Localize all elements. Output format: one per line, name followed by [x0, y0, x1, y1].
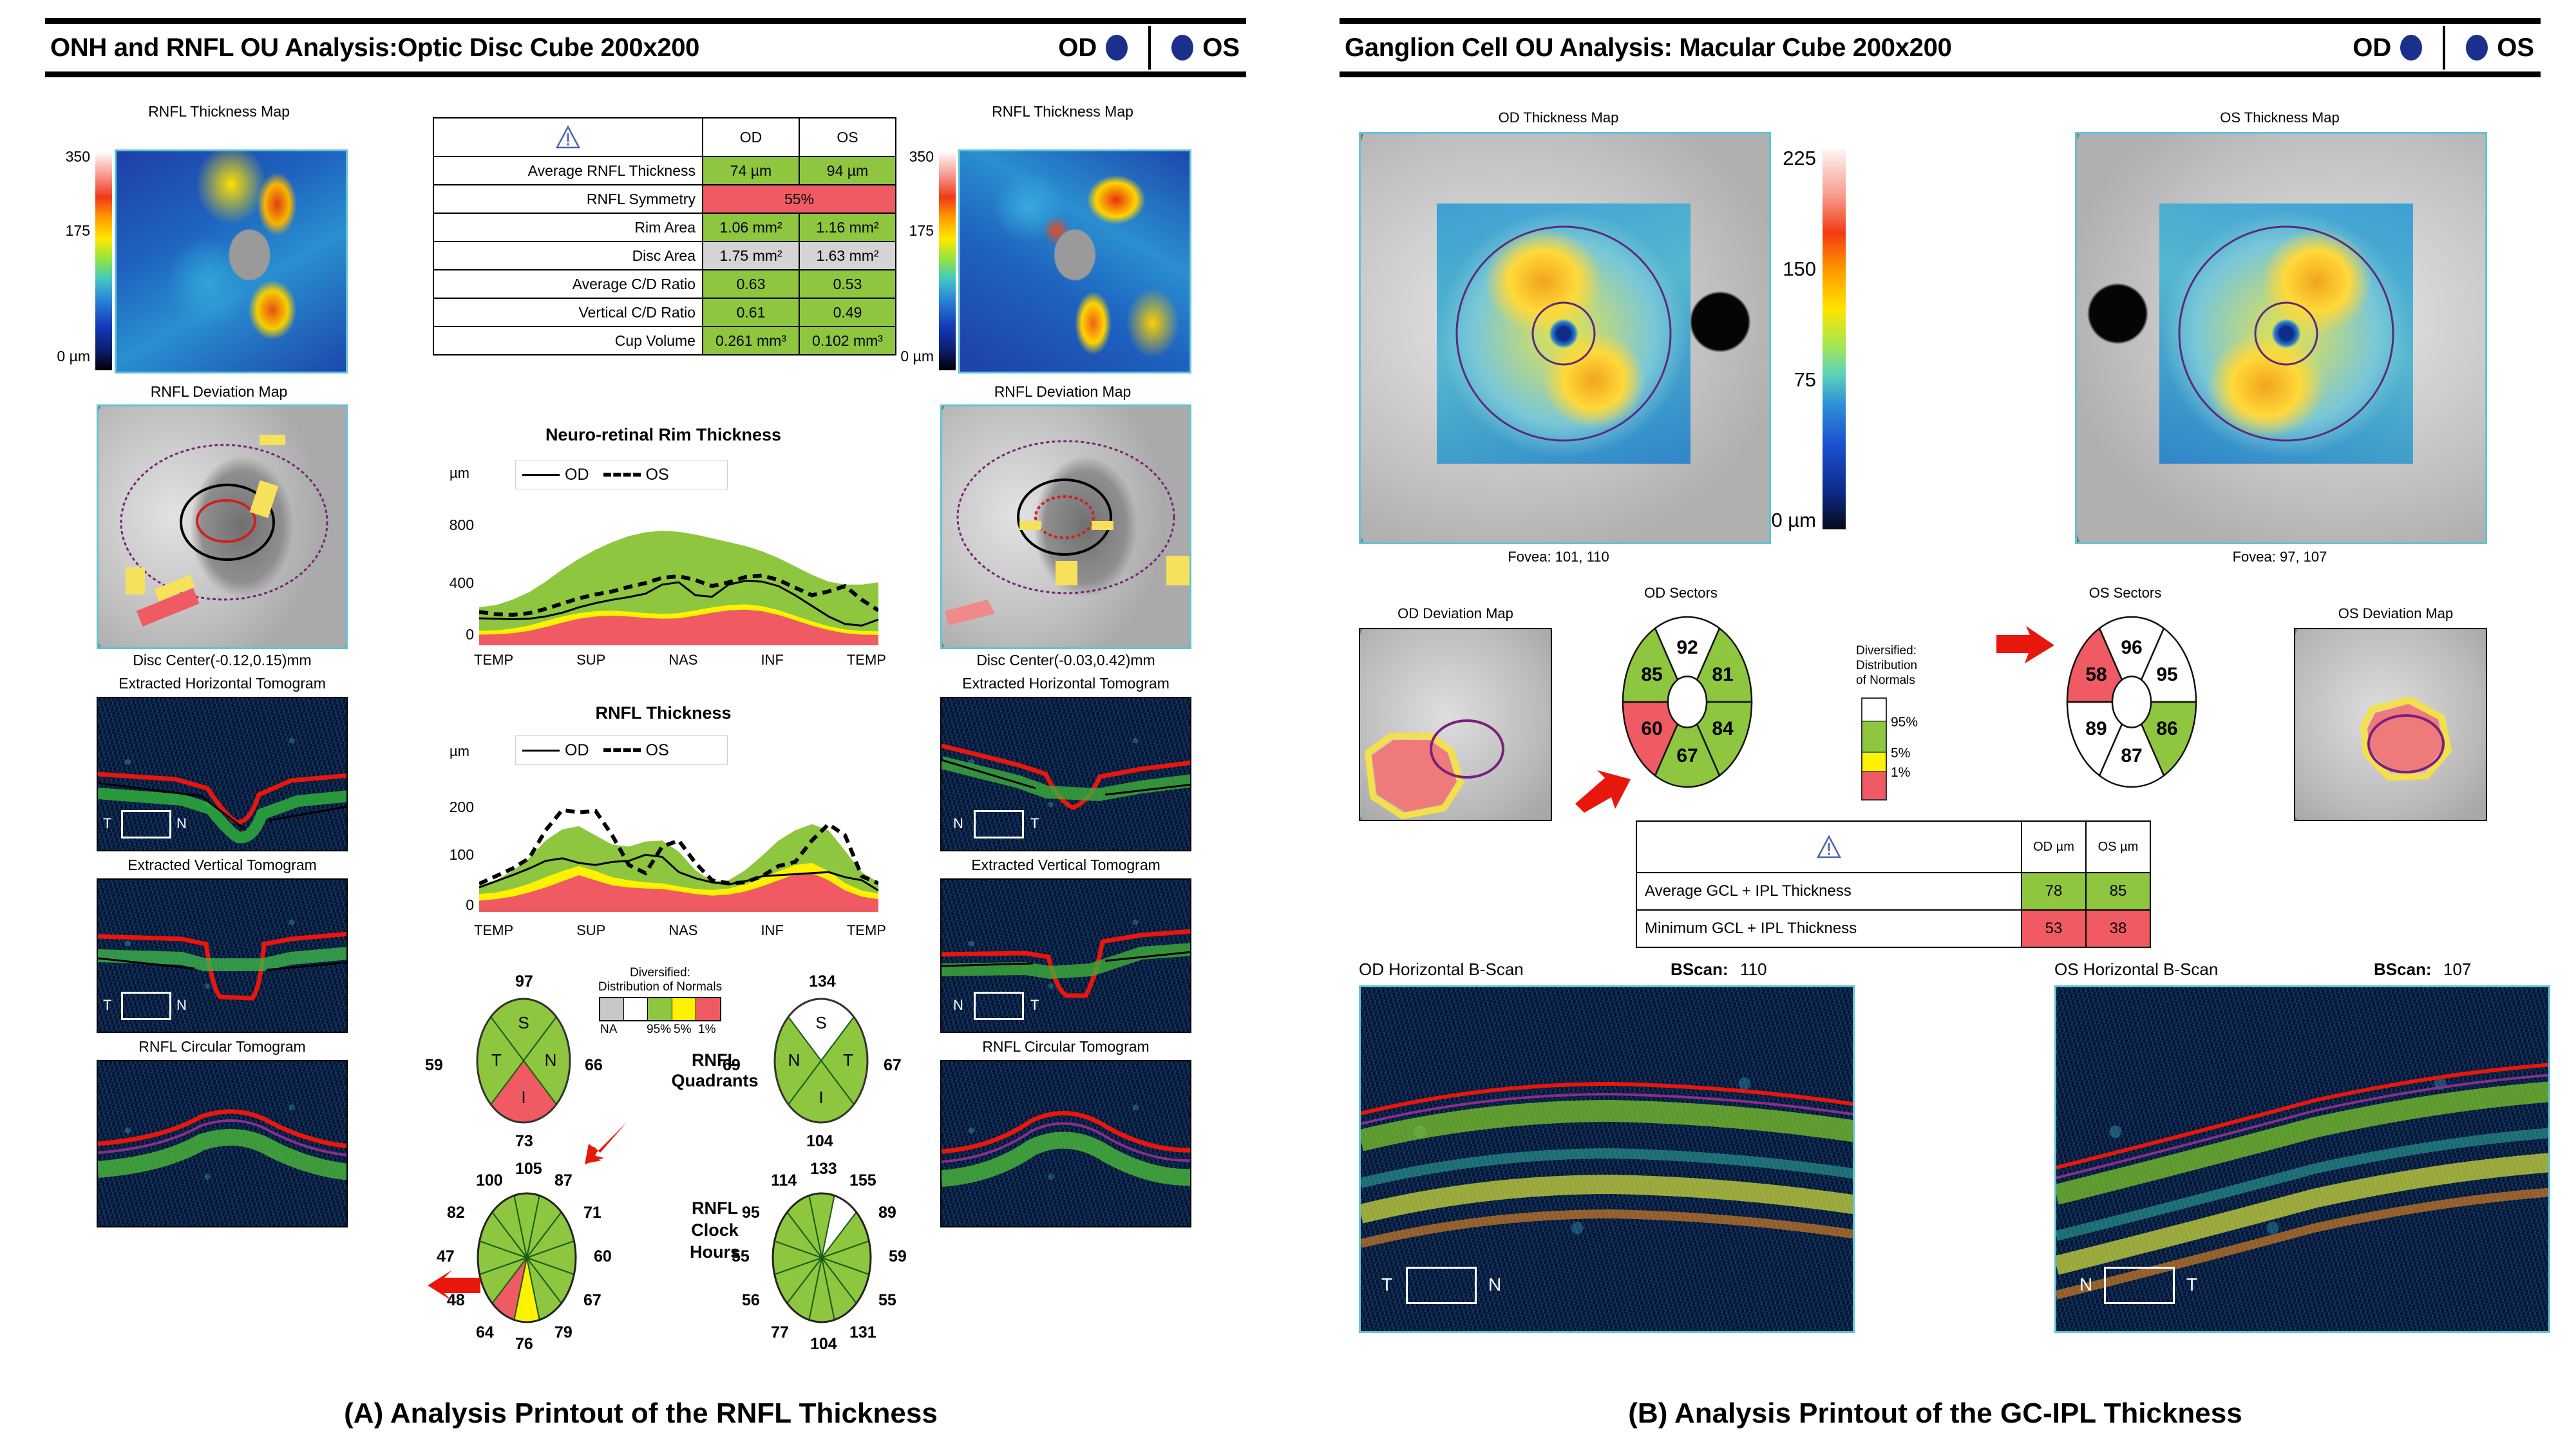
- normals-label-1: 1%: [698, 1023, 715, 1037]
- os-h-marker-right: T: [1030, 815, 1039, 832]
- svg-text:86: 86: [2156, 718, 2177, 739]
- normals-label-95: 95%: [647, 1023, 671, 1037]
- nrr-legend-os-label: OS: [646, 466, 669, 484]
- row-os-2: 1.16 mm²: [799, 213, 896, 241]
- rnfl-xtick-3: INF: [761, 922, 783, 939]
- os-deviation-map-title: RNFL Deviation Map: [934, 383, 1191, 401]
- row-od-6: 0.261 mm³: [703, 327, 799, 355]
- od-label: OD: [1058, 33, 1097, 62]
- gcipl-col-os: OS µm: [2086, 821, 2150, 873]
- od-bscan-label: BScan:: [1671, 960, 1728, 980]
- normals-legend-swatches: [599, 997, 721, 1021]
- table-row: Cup Volume 0.261 mm³ 0.102 mm³: [433, 327, 896, 355]
- row-os-5: 0.49: [799, 298, 896, 327]
- onh-rnfl-summary-table: OD OS Average RNFL Thickness 74 µm 94 µm…: [433, 117, 896, 355]
- os-scale-top: 350: [889, 148, 934, 166]
- os-horizontal-tomogram[interactable]: N T: [940, 697, 1191, 851]
- gc-legend-tick-95: 95%: [1891, 715, 1918, 730]
- svg-text:I: I: [819, 1088, 823, 1107]
- row-od-0: 74 µm: [703, 156, 799, 185]
- rnfl-clock-label-3: Hours: [650, 1242, 779, 1264]
- panel-b-header: Ganglion Cell OU Analysis: Macular Cube …: [1340, 18, 2541, 77]
- os-rnfl-thickness-map[interactable]: [958, 149, 1191, 374]
- gc-normals-legend: Diversified: Distribution of Normals: [1856, 644, 1978, 688]
- os-label-b: OS: [2497, 33, 2534, 62]
- rnfl-clock-label-2: Clock: [650, 1220, 779, 1242]
- os-vertical-tomogram[interactable]: N T: [940, 878, 1191, 1033]
- clock-value-1: 87: [554, 1171, 573, 1190]
- nrr-legend-os-line: [603, 473, 641, 477]
- gc-legend-color-bar: [1861, 697, 1887, 800]
- table-row: Vertical C/D Ratio 0.61 0.49: [433, 298, 896, 327]
- os-horizontal-bscan[interactable]: N T: [2054, 985, 2550, 1333]
- normals-legend-labels: NA 95% 5% 1%: [599, 1023, 721, 1038]
- os-rnfl-clock-wheel[interactable]: [764, 1188, 880, 1327]
- table-row: Average RNFL Thickness 74 µm 94 µm: [433, 156, 896, 185]
- clock-value-11: 100: [476, 1171, 503, 1190]
- nrr-xtick-1: SUP: [576, 652, 605, 668]
- row-label-3: Disc Area: [433, 241, 703, 270]
- clock-value-5: 131: [849, 1323, 876, 1342]
- gc-swatch-white: [1862, 699, 1886, 722]
- rnfl-legend-od-label: OD: [565, 741, 589, 760]
- clock-value-3: 59: [889, 1247, 907, 1266]
- svg-text:S: S: [518, 1013, 529, 1032]
- od-bscan-marker-right: N: [1488, 1274, 1501, 1295]
- od-circular-tomogram[interactable]: [97, 1060, 348, 1227]
- od-v-tomogram-marker: [121, 992, 171, 1020]
- header-b-rule-top: [1340, 18, 2541, 24]
- svg-text:92: 92: [1676, 637, 1698, 658]
- svg-text:S: S: [815, 1013, 826, 1032]
- od-quad-sup-value: 97: [515, 972, 533, 991]
- gc-scale-150: 150: [1768, 258, 1816, 281]
- rnfl-legend-od-line: [522, 750, 560, 752]
- os-quad-sup-value: 134: [809, 972, 836, 991]
- od-horizontal-tomogram-title: Extracted Horizontal Tomogram: [84, 675, 361, 692]
- od-horizontal-bscan[interactable]: T N: [1359, 985, 1855, 1333]
- rnfl-clock-hours-label: RNFL Clock Hours: [650, 1198, 779, 1263]
- gcipl-row-od-0: 78: [2022, 873, 2086, 910]
- row-os-4: 0.53: [799, 270, 896, 298]
- od-gc-thickness-title: OD Thickness Map: [1333, 109, 1784, 126]
- clock-value-10: 82: [447, 1204, 465, 1222]
- clock-value-2: 89: [878, 1204, 896, 1222]
- os-horizontal-tomogram-title: Extracted Horizontal Tomogram: [927, 675, 1204, 692]
- os-h-tomogram-marker: [974, 810, 1024, 838]
- od-fovea-coords: Fovea: 101, 110: [1333, 549, 1784, 565]
- gc-scale-225: 225: [1768, 147, 1816, 170]
- gc-color-scale-bar: [1823, 149, 1846, 529]
- od-scale-mid: 175: [45, 222, 90, 240]
- panel-b-gcipl: Ganglion Cell OU Analysis: Macular Cube …: [1294, 0, 2576, 1449]
- nrr-legend: OD OS: [515, 460, 728, 489]
- os-gc-deviation-map[interactable]: [2294, 628, 2487, 821]
- gc-legend-tick-5: 5%: [1891, 746, 1910, 761]
- eye-divider-b: [2443, 26, 2445, 70]
- neuro-retinal-rim-chart: Neuro-retinal Rim Thickness µm OD OS 800…: [425, 425, 902, 683]
- gc-swatch-green: [1862, 722, 1886, 753]
- normals-label-na: NA: [600, 1023, 617, 1037]
- panel-a-header: ONH and RNFL OU Analysis:Optic Disc Cube…: [45, 18, 1246, 77]
- od-v-marker-left: T: [103, 997, 111, 1014]
- od-rnfl-deviation-map[interactable]: [97, 404, 348, 649]
- gcipl-col-od: OD µm: [2022, 821, 2086, 873]
- warning-icon-cell: [433, 118, 703, 156]
- nrr-xtick-3: INF: [761, 652, 783, 668]
- svg-text:58: 58: [2085, 664, 2107, 685]
- od-gc-sector-wheel[interactable]: 928184676085: [1616, 612, 1758, 792]
- rnfl-quadrants-label-1: RNFL: [650, 1050, 779, 1070]
- clock-value-3: 60: [594, 1247, 612, 1266]
- header-rule-top: [45, 18, 1246, 24]
- os-gc-thickness-map[interactable]: [2075, 132, 2487, 544]
- os-rnfl-deviation-map[interactable]: [940, 404, 1191, 649]
- svg-text:84: 84: [1712, 718, 1734, 739]
- os-h-marker-left: N: [953, 815, 963, 832]
- svg-text:60: 60: [1641, 718, 1662, 739]
- panel-a-eye-indicators: OD OS: [1058, 26, 1246, 70]
- rnfl-ytick-200: 200: [429, 799, 474, 816]
- os-sector-alert-arrow: [1994, 623, 2058, 675]
- panel-b-eye-indicators: OD OS: [2353, 26, 2541, 70]
- os-circular-tomogram-title: RNFL Circular Tomogram: [927, 1038, 1204, 1056]
- row-os-0: 94 µm: [799, 156, 896, 185]
- clock-value-6: 76: [515, 1335, 533, 1354]
- od-rnfl-clock-wheel[interactable]: [469, 1188, 585, 1327]
- svg-text:85: 85: [1641, 664, 1662, 685]
- nrr-legend-od-label: OD: [565, 466, 589, 484]
- row-od-3: 1.75 mm²: [703, 241, 799, 270]
- clock-value-7: 77: [771, 1323, 789, 1342]
- od-circular-tomogram-title: RNFL Circular Tomogram: [84, 1038, 361, 1056]
- col-header-od: OD: [703, 118, 799, 156]
- od-deviation-map-title: RNFL Deviation Map: [90, 383, 348, 401]
- od-scale-bottom: 0 µm: [23, 348, 90, 365]
- swatch-yellow: [672, 998, 696, 1020]
- row-label-1: RNFL Symmetry: [433, 185, 703, 213]
- od-thickness-map-title: RNFL Thickness Map: [90, 103, 348, 120]
- clock-value-9: 47: [437, 1247, 455, 1266]
- od-color-scale-bar: [95, 151, 112, 370]
- rnfl-xtick-4: TEMP: [847, 922, 886, 939]
- clock-value-11: 114: [771, 1171, 797, 1190]
- rnfl-clock-label-1: RNFL: [650, 1198, 779, 1220]
- os-disc-center: Disc Center(-0.03,0.42)mm: [927, 652, 1204, 669]
- rnfl-xaxis: TEMP SUP NAS INF TEMP: [474, 922, 886, 939]
- rnfl-xtick-1: SUP: [576, 922, 605, 939]
- od-quadrant-alert-arrow: [571, 1121, 629, 1166]
- svg-text:81: 81: [1712, 664, 1733, 685]
- clock-value-7: 64: [476, 1323, 494, 1342]
- gc-swatch-yellow: [1862, 753, 1886, 772]
- od-clock-alert-arrow: [419, 1266, 483, 1315]
- rnfl-quadrants-label-2: Quadrants: [650, 1070, 779, 1091]
- row-od-5: 0.61: [703, 298, 799, 327]
- clock-value-6: 104: [810, 1335, 837, 1354]
- panel-a-caption: (A) Analysis Printout of the RNFL Thickn…: [0, 1397, 1282, 1430]
- svg-text:T: T: [491, 1050, 502, 1070]
- clock-value-0: 133: [810, 1160, 837, 1179]
- clock-value-1: 155: [849, 1171, 876, 1190]
- normals-legend-title-2: Distribution of Normals: [554, 980, 766, 994]
- table-row: RNFL Symmetry 55%: [433, 185, 896, 213]
- gcipl-header-row: OD µm OS µm: [1636, 821, 2150, 873]
- panel-a-title: ONH and RNFL OU Analysis:Optic Disc Cube…: [45, 33, 699, 62]
- rnfl-ytick-100: 100: [429, 846, 474, 864]
- panel-b-title: Ganglion Cell OU Analysis: Macular Cube …: [1340, 33, 1952, 62]
- clock-value-4: 67: [583, 1291, 601, 1310]
- clock-value-8: 56: [742, 1291, 760, 1310]
- nrr-ytick-800: 800: [429, 516, 474, 534]
- od-h-tomogram-marker: [121, 810, 171, 838]
- od-quad-nas-value: 66: [585, 1056, 603, 1075]
- rnfl-unit: µm: [450, 743, 469, 760]
- od-bscan-title: OD Horizontal B-Scan: [1359, 960, 1524, 980]
- od-eye-icon-b: [2400, 35, 2422, 61]
- od-sectors-title: OD Sectors: [1565, 585, 1797, 601]
- rnfl-legend-os-line: [603, 748, 641, 752]
- panel-a-rnfl: ONH and RNFL OU Analysis:Optic Disc Cube…: [0, 0, 1282, 1449]
- os-scale-mid: 175: [889, 222, 934, 240]
- clock-value-10: 95: [742, 1204, 760, 1222]
- clock-value-5: 79: [554, 1323, 573, 1342]
- os-bscan-marker: [2104, 1267, 2175, 1304]
- gc-swatch-red: [1862, 772, 1886, 799]
- swatch-na: [600, 998, 624, 1020]
- od-h-marker-right: N: [176, 815, 187, 832]
- os-eye-icon: [1171, 35, 1193, 61]
- row-value-span-1: 55%: [703, 185, 896, 213]
- gc-legend-title-3: of Normals: [1856, 674, 1978, 688]
- nrr-legend-od-line: [522, 474, 560, 476]
- rnfl-thickness-chart: RNFL Thickness µm OD OS 200 100 0 TEMP S…: [425, 703, 902, 961]
- os-gc-thickness-title: OS Thickness Map: [2054, 109, 2505, 126]
- svg-text:I: I: [521, 1088, 526, 1107]
- nrr-chart-title: Neuro-retinal Rim Thickness: [425, 425, 902, 445]
- row-od-4: 0.63: [703, 270, 799, 298]
- od-vertical-tomogram[interactable]: T N: [97, 878, 348, 1033]
- rnfl-chart-title: RNFL Thickness: [425, 703, 902, 723]
- os-rnfl-quadrant-wheel[interactable]: STIN: [766, 995, 876, 1127]
- row-os-3: 1.63 mm²: [799, 241, 896, 270]
- od-bscan-marker: [1406, 1267, 1477, 1304]
- od-quad-temp-value: 59: [425, 1056, 443, 1075]
- os-bscan-marker-right: T: [2186, 1274, 2197, 1295]
- nrr-xtick-4: TEMP: [847, 652, 886, 668]
- nrr-xaxis: TEMP SUP NAS INF TEMP: [474, 652, 886, 668]
- panel-b-caption: (B) Analysis Printout of the GC-IPL Thic…: [1294, 1397, 2576, 1430]
- table-row: Disc Area 1.75 mm² 1.63 mm²: [433, 241, 896, 270]
- os-v-marker-left: N: [953, 997, 963, 1014]
- od-label-b: OD: [2353, 33, 2391, 62]
- gc-legend-title-2: Distribution: [1856, 659, 1978, 674]
- nrr-xtick-0: TEMP: [474, 652, 513, 668]
- rnfl-xtick-2: NAS: [668, 922, 697, 939]
- os-thickness-map-title: RNFL Thickness Map: [934, 103, 1191, 120]
- os-color-scale-bar: [939, 151, 956, 370]
- gc-legend-tick-1: 1%: [1891, 765, 1910, 781]
- os-vertical-tomogram-title: Extracted Vertical Tomogram: [927, 857, 1204, 874]
- header-rule-bottom: [45, 71, 1246, 77]
- header-b-rule-bottom: [1340, 71, 2541, 77]
- gcipl-row-label-1: Minimum GCL + IPL Thickness: [1636, 910, 2022, 947]
- col-header-os: OS: [799, 118, 896, 156]
- gcipl-row-os-0: 85: [2086, 873, 2150, 910]
- od-bscan-value: 110: [1740, 960, 1766, 980]
- normals-legend-title-1: Diversified:: [554, 966, 766, 980]
- od-v-marker-right: N: [176, 997, 187, 1014]
- normals-legend: Diversified: Distribution of Normals NA …: [554, 966, 766, 1038]
- svg-text:67: 67: [1676, 745, 1698, 766]
- svg-text:87: 87: [2121, 745, 2142, 766]
- gcipl-row: Minimum GCL + IPL Thickness 53 38: [1636, 910, 2150, 947]
- os-v-tomogram-marker: [974, 992, 1024, 1020]
- rnfl-quadrants-label: RNFL Quadrants: [650, 1050, 779, 1092]
- rnfl-xtick-0: TEMP: [474, 922, 513, 939]
- normals-label-5: 5%: [674, 1023, 691, 1037]
- od-eye-icon: [1106, 35, 1128, 61]
- od-rnfl-thickness-map[interactable]: [115, 149, 348, 374]
- table-row: Average C/D Ratio 0.63 0.53: [433, 270, 896, 298]
- od-h-marker-left: T: [103, 815, 111, 832]
- od-sector-alert-arrow: [1571, 766, 1633, 818]
- os-bscan-title: OS Horizontal B-Scan: [2054, 960, 2218, 980]
- os-quad-inf-value: 104: [806, 1132, 833, 1151]
- od-gc-thickness-map[interactable]: [1359, 132, 1771, 544]
- table-header-row: OD OS: [433, 118, 896, 156]
- clock-value-0: 105: [515, 1160, 542, 1179]
- gcipl-row-label-0: Average GCL + IPL Thickness: [1636, 873, 2022, 910]
- row-label-5: Vertical C/D Ratio: [433, 298, 703, 327]
- gcipl-row-od-1: 53: [2022, 910, 2086, 947]
- os-fovea-coords: Fovea: 97, 107: [2054, 549, 2505, 565]
- nrr-ytick-0: 0: [429, 626, 474, 643]
- row-od-2: 1.06 mm²: [703, 213, 799, 241]
- gcipl-row-os-1: 38: [2086, 910, 2150, 947]
- od-gc-deviation-map[interactable]: [1359, 628, 1552, 821]
- svg-text:95: 95: [2156, 664, 2177, 685]
- gcipl-warning-icon-cell: [1636, 821, 2022, 873]
- row-label-2: Rim Area: [433, 213, 703, 241]
- os-label: OS: [1202, 33, 1240, 62]
- od-scale-top: 350: [45, 148, 90, 166]
- nrr-plot: [479, 509, 878, 645]
- od-vertical-tomogram-title: Extracted Vertical Tomogram: [84, 857, 361, 874]
- os-bscan-label: BScan:: [2374, 960, 2432, 980]
- od-horizontal-tomogram[interactable]: T N: [97, 697, 348, 851]
- svg-text:N: N: [545, 1050, 557, 1070]
- od-bscan-marker-left: T: [1381, 1274, 1392, 1295]
- gc-scale-0: 0 µm: [1749, 509, 1816, 532]
- os-v-marker-right: T: [1030, 997, 1039, 1014]
- clock-value-4: 55: [878, 1291, 896, 1310]
- row-label-6: Cup Volume: [433, 327, 703, 355]
- row-label-0: Average RNFL Thickness: [433, 156, 703, 185]
- os-circular-tomogram[interactable]: [940, 1060, 1191, 1227]
- od-disc-center: Disc Center(-0.12,0.15)mm: [84, 652, 361, 669]
- os-scale-bottom: 0 µm: [867, 348, 934, 365]
- rnfl-plot: [479, 784, 878, 912]
- row-label-4: Average C/D Ratio: [433, 270, 703, 298]
- swatch-red: [696, 998, 720, 1020]
- rnfl-legend-os-label: OS: [646, 741, 669, 760]
- swatch-white: [624, 998, 648, 1020]
- os-gc-deviation-title: OS Deviation Map: [2260, 605, 2531, 622]
- od-quad-inf-value: 73: [515, 1132, 533, 1151]
- svg-text:89: 89: [2085, 718, 2107, 739]
- os-eye-icon-b: [2466, 35, 2488, 61]
- rnfl-ytick-0: 0: [429, 896, 474, 914]
- os-sectors-title: OS Sectors: [2009, 585, 2241, 601]
- clock-value-2: 71: [583, 1204, 601, 1222]
- nrr-xtick-2: NAS: [668, 652, 697, 668]
- os-bscan-marker-left: N: [2079, 1274, 2092, 1295]
- gcipl-row: Average GCL + IPL Thickness 78 85: [1636, 873, 2150, 910]
- eye-divider: [1148, 26, 1151, 70]
- od-gc-deviation-title: OD Deviation Map: [1320, 605, 1591, 622]
- os-quad-temp-value: 67: [884, 1056, 902, 1075]
- od-rnfl-quadrant-wheel[interactable]: SNIT: [469, 995, 578, 1127]
- gc-legend-title-1: Diversified:: [1856, 644, 1978, 659]
- table-row: Rim Area 1.06 mm² 1.16 mm²: [433, 213, 896, 241]
- os-bscan-value: 107: [2443, 960, 2471, 980]
- nrr-unit: µm: [450, 465, 469, 482]
- rnfl-legend: OD OS: [515, 735, 728, 765]
- svg-text:96: 96: [2121, 637, 2142, 658]
- swatch-green: [648, 998, 672, 1020]
- os-gc-sector-wheel[interactable]: 969586878958: [2061, 612, 2202, 792]
- gcipl-summary-table: OD µm OS µm Average GCL + IPL Thickness …: [1636, 820, 2151, 948]
- svg-text:T: T: [843, 1050, 853, 1070]
- gc-scale-75: 75: [1768, 368, 1816, 392]
- nrr-ytick-400: 400: [429, 574, 474, 592]
- svg-text:N: N: [788, 1050, 800, 1070]
- clock-value-9: 55: [732, 1247, 750, 1266]
